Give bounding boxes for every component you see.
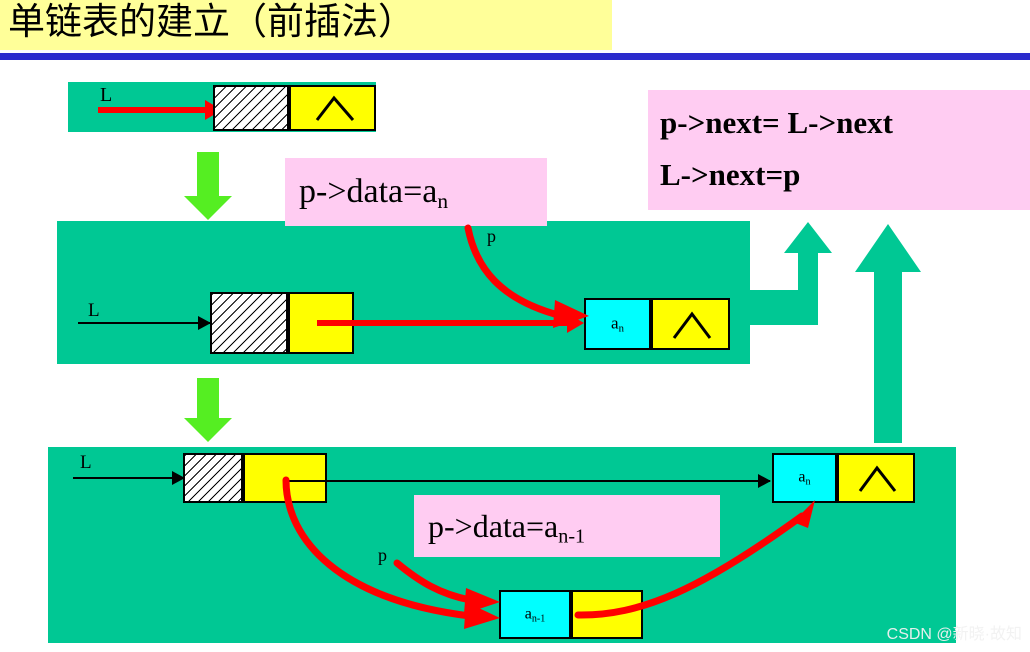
step3-head-cell	[183, 453, 243, 503]
callout-p-data-an-text: p->data=an	[285, 158, 547, 235]
step3-long-link-head	[758, 474, 771, 488]
step3-tail-data-label: an	[774, 469, 835, 488]
step3-head-next-cell	[243, 453, 327, 503]
down-arrow-icon	[184, 152, 232, 220]
callout-code-line2: L->next=p	[648, 150, 1030, 200]
step2-nil-cell	[651, 298, 730, 350]
step3-tail-data-cell: an	[772, 453, 837, 503]
callout-p-data-an1: p->data=an-1	[414, 495, 720, 557]
up-arrow-icon	[855, 224, 921, 443]
step1-head-cell	[213, 85, 289, 131]
down-arrow-icon	[184, 378, 232, 442]
nil-caret-svg	[291, 87, 378, 129]
step2-red-link-head	[567, 313, 584, 333]
step3-pointer-label: L	[80, 452, 92, 474]
step2-black-line	[78, 322, 210, 324]
nil-caret-svg	[839, 455, 917, 501]
callout-p-data-an: p->data=an	[285, 158, 547, 226]
step3-p-label: p	[378, 545, 387, 566]
step2-pointer-label: L	[88, 300, 100, 322]
slide-canvas: 单链表的建立（前插法） L L an p L	[0, 0, 1030, 652]
step1-next-cell	[289, 85, 376, 131]
step2-red-link-line	[317, 320, 575, 326]
step1-red-arrow-line	[98, 107, 213, 113]
title-divider	[0, 53, 1030, 60]
nil-caret-icon	[839, 455, 913, 501]
step2-data-cell: an	[584, 298, 651, 350]
csdn-watermark: CSDN @新晓·故知	[887, 620, 1022, 644]
nil-caret-icon	[653, 300, 728, 348]
nil-caret-svg	[653, 300, 732, 348]
step3-new-data-label: an-1	[501, 605, 569, 624]
nil-caret-icon	[291, 87, 374, 129]
page-title: 单链表的建立（前插法）	[8, 0, 415, 48]
callout-code: p->next= L->next L->next=p	[648, 90, 1030, 210]
step3-tail-nil-cell	[837, 453, 915, 503]
step2-head-cell	[210, 292, 288, 354]
callout-code-line1: p->next= L->next	[648, 90, 1030, 150]
step1-pointer-label: L	[100, 84, 112, 107]
step2-data-cell-label: an	[586, 314, 649, 335]
step3-long-link-line	[285, 480, 770, 482]
bent-up-arrow-icon	[750, 222, 832, 325]
step3-new-next-cell	[571, 590, 643, 639]
callout-p-data-an1-text: p->data=an-1	[414, 495, 720, 568]
step3-black-line	[73, 477, 183, 479]
step3-new-data-cell: an-1	[499, 590, 571, 639]
